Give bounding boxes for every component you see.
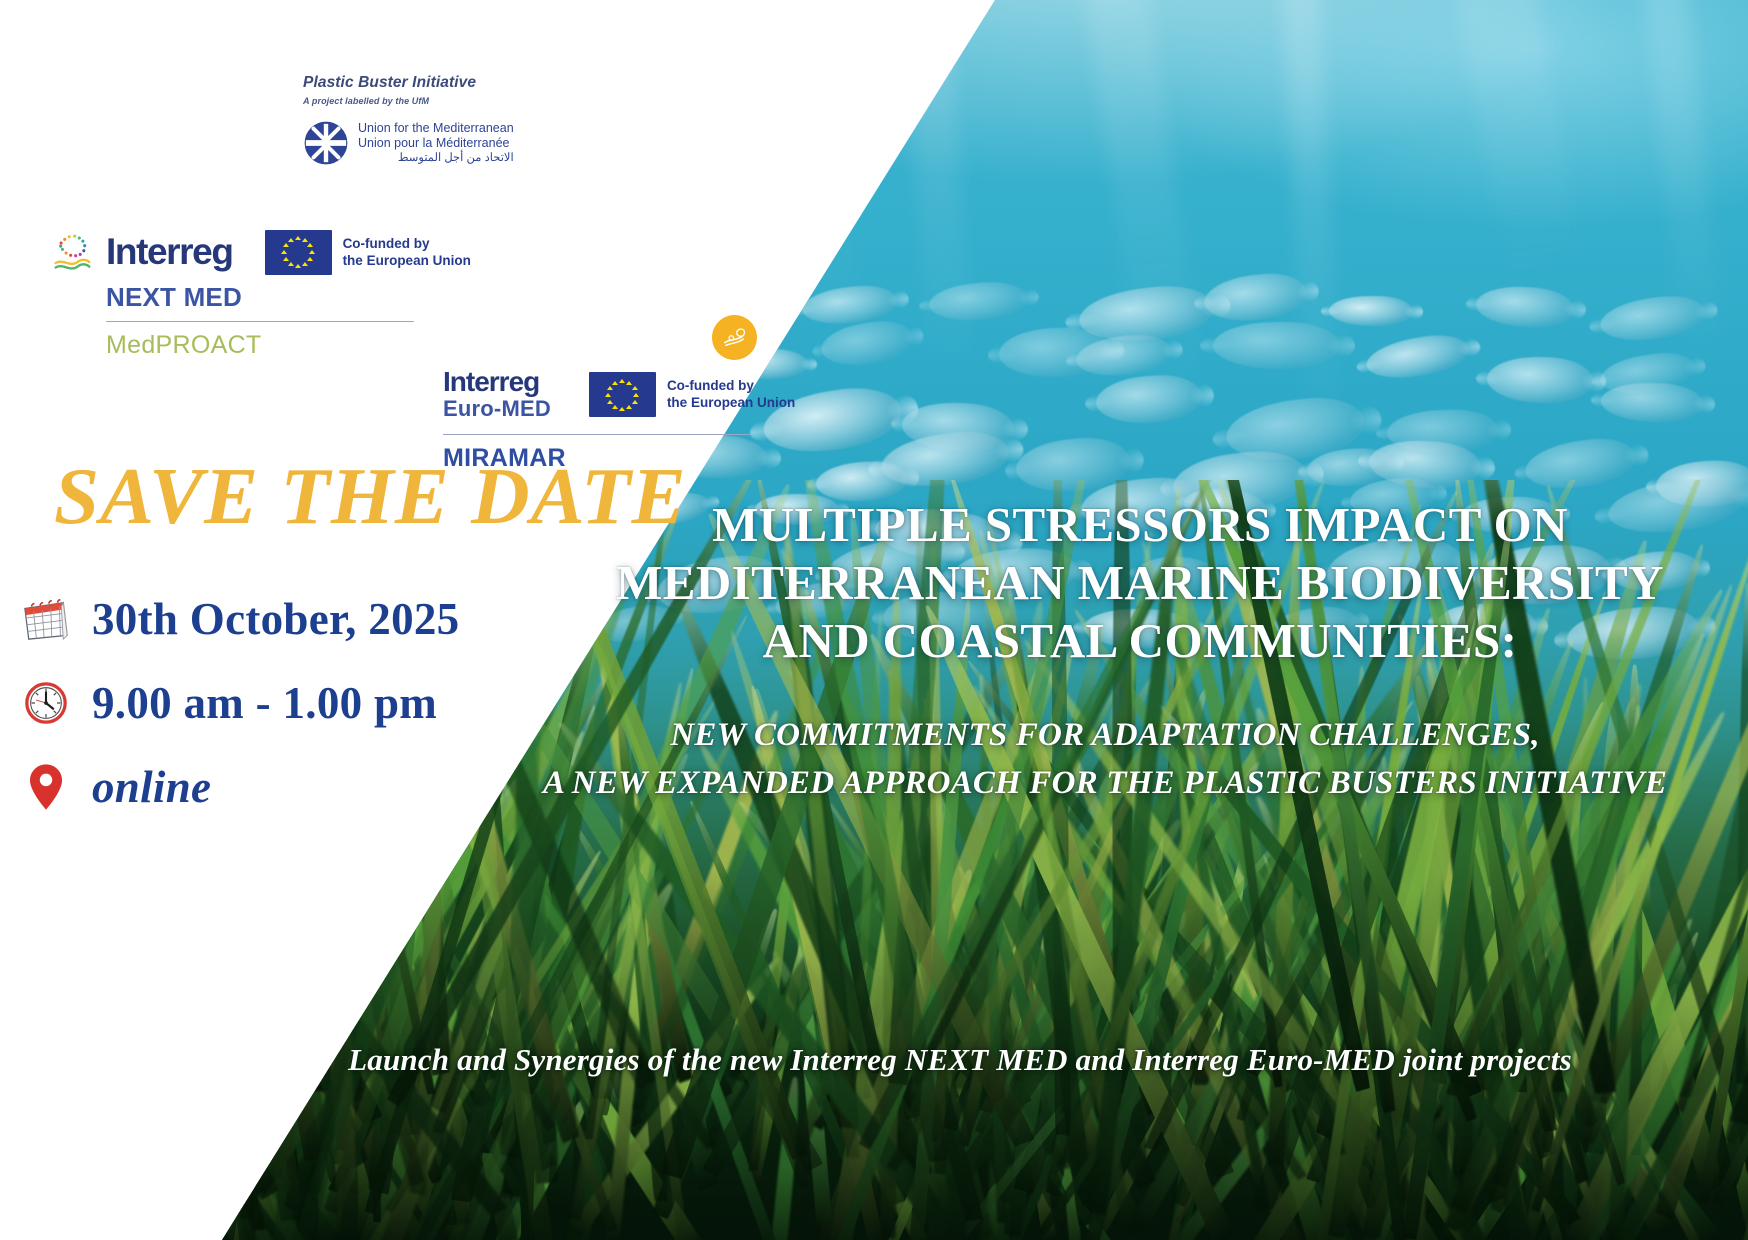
event-tagline: Launch and Synergies of the new Interreg… (240, 1042, 1680, 1078)
event-detail-value: 30th October, 2025 (92, 593, 459, 645)
programme-name-euro-med: Euro-MED (443, 398, 551, 420)
eu-funding-line2: the European Union (343, 253, 471, 269)
eu-funding-next-med: Co-funded by the European Union (265, 230, 471, 275)
event-detail-row: 9.00 am - 1.00 pm (18, 661, 459, 745)
headline-line-3: AND COASTAL COMMUNITIES: (560, 612, 1720, 670)
headline-line-1: MULTIPLE STRESSORS IMPACT ON (560, 496, 1720, 554)
hand-leaf-badge-icon (712, 315, 757, 360)
interreg-swirl-icon (52, 232, 92, 274)
location-pin-icon (18, 763, 74, 811)
event-details-list: 30th October, 2025 9.00 am - 1.00 pm onl… (18, 577, 459, 829)
interreg-brand-euro-med: Interreg (443, 368, 551, 395)
event-subheadline: NEW COMMITMENTS FOR ADAPTATION CHALLENGE… (480, 712, 1730, 808)
eu-star-icon (605, 393, 611, 397)
eu-star-icon (295, 264, 301, 268)
fish-icon (1598, 291, 1708, 346)
eu-flag-icon (589, 372, 656, 417)
eu-star-icon (633, 393, 639, 397)
eu-funding-line1: Co-funded by (343, 236, 471, 252)
ufm-name-en: Union for the Mediterranean (358, 121, 514, 136)
project-name-medproact: MedPROACT (106, 331, 471, 360)
eu-star-icon (307, 257, 313, 261)
event-detail-row: 30th October, 2025 (18, 577, 459, 661)
headline-line-2: MEDITERRANEAN MARINE BIODIVERSITY (560, 554, 1720, 612)
subheadline-line-2: A NEW EXPANDED APPROACH FOR THE PLASTIC … (480, 760, 1730, 808)
fish-icon (1487, 356, 1594, 405)
eu-star-icon (626, 381, 632, 385)
ufm-name-ar: الاتحاد من أجل المتوسط (358, 151, 514, 165)
eu-star-icon (632, 400, 638, 404)
subheadline-line-1: NEW COMMITMENTS FOR ADAPTATION CHALLENGE… (480, 712, 1730, 760)
programme-logo-next-med: Interreg Co-funded by the European Union… (52, 230, 1047, 360)
eu-star-icon (295, 236, 301, 240)
ufm-logo-block: Plastic Buster Initiative A project labe… (303, 74, 603, 166)
divider-next-med (106, 321, 414, 322)
ufm-wheel-icon (303, 120, 349, 166)
event-detail-row: online (18, 745, 459, 829)
eu-funding-euro-med: Co-funded by the European Union (589, 372, 795, 417)
eu-star-icon (283, 257, 289, 261)
eu-star-icon (626, 405, 632, 409)
eu-funding-text: Co-funded by the European Union (667, 378, 795, 411)
eu-star-icon (288, 262, 294, 266)
eu-star-icon (632, 386, 638, 390)
eu-star-icon (619, 407, 625, 411)
plastic-buster-initiative-subtitle: A project labelled by the UfM (303, 96, 603, 106)
ufm-name-fr: Union pour la Méditerranée (358, 136, 514, 151)
eu-star-icon (302, 262, 308, 266)
clock-icon (18, 680, 74, 726)
event-detail-value: 9.00 am - 1.00 pm (92, 677, 437, 729)
fish-icon (1475, 284, 1575, 329)
event-headline: MULTIPLE STRESSORS IMPACT ONMEDITERRANEA… (560, 496, 1720, 669)
eu-star-icon (283, 243, 289, 247)
divider-euro-med (443, 434, 750, 435)
eu-star-icon (619, 379, 625, 383)
programme-name-next-med: NEXT MED (106, 284, 471, 310)
ufm-name-list: Union for the Mediterranean Union pour l… (358, 121, 514, 166)
fish-icon (1329, 296, 1413, 327)
eu-funding-line2: the European Union (667, 395, 795, 411)
eu-star-icon (281, 250, 287, 254)
eu-star-icon (309, 250, 315, 254)
save-the-date-poster: Plastic Buster Initiative A project labe… (0, 0, 1748, 1240)
plastic-buster-initiative-title: Plastic Buster Initiative (303, 74, 603, 92)
calendar-icon (18, 595, 74, 643)
fish-icon (1213, 322, 1340, 369)
eu-star-icon (612, 405, 618, 409)
eu-star-icon (612, 381, 618, 385)
fish-icon (1600, 381, 1703, 423)
light-shaft (1451, 0, 1586, 287)
eu-star-icon (607, 386, 613, 390)
eu-flag-icon (265, 230, 332, 275)
eu-funding-line1: Co-funded by (667, 378, 795, 394)
eu-star-icon (607, 400, 613, 404)
eu-star-icon (307, 243, 313, 247)
eu-funding-text: Co-funded by the European Union (343, 236, 471, 269)
interreg-brand-next-med: Interreg (106, 234, 233, 270)
eu-star-icon (302, 238, 308, 242)
event-detail-value: online (92, 761, 211, 813)
eu-star-icon (288, 238, 294, 242)
